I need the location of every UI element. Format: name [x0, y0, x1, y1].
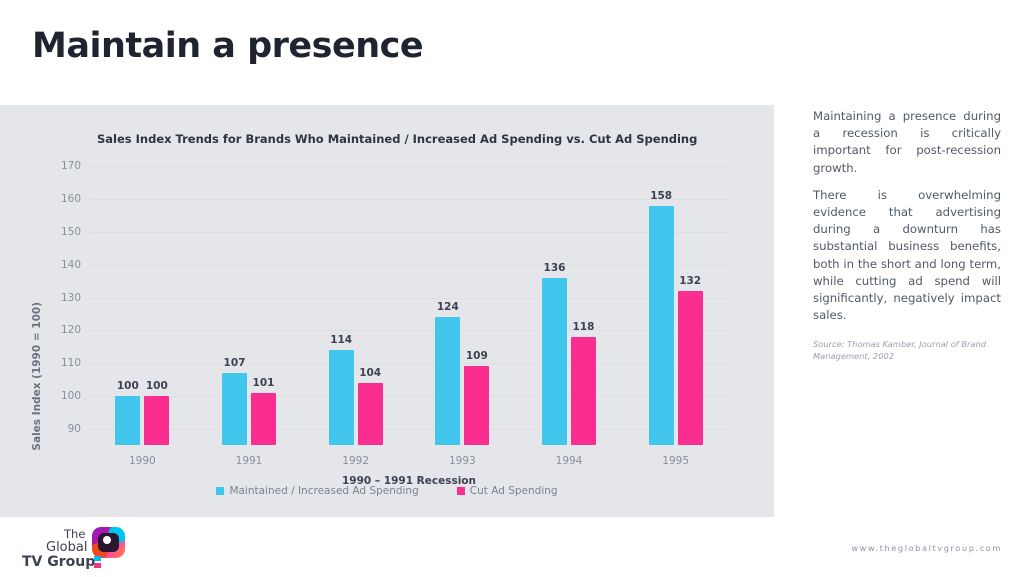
- gridline: [89, 199, 729, 200]
- bar-1994-series2: 118: [571, 337, 596, 445]
- y-axis-tick-label: 130: [61, 292, 81, 304]
- gridline: [89, 429, 729, 430]
- x-axis-tick-label: 1994: [556, 455, 583, 467]
- bar-value-label: 100: [117, 380, 139, 392]
- bar-value-label: 132: [679, 275, 701, 287]
- legend-label: Maintained / Increased Ad Spending: [229, 485, 418, 497]
- y-axis-title: Sales Index (1990 = 100): [31, 302, 43, 451]
- tv-eye-pupil-shape: [103, 536, 111, 544]
- bar-value-label: 124: [437, 301, 459, 313]
- bar-1993-series2: 109: [464, 366, 489, 445]
- gridline: [89, 363, 729, 364]
- x-axis-tick-label: 1991: [236, 455, 263, 467]
- logo-text-the: The: [64, 529, 85, 541]
- bar-1991-series1: 107: [222, 373, 247, 445]
- bar-value-label: 101: [253, 377, 275, 389]
- side-paragraph-2: There is overwhelming evidence that adve…: [813, 187, 1001, 325]
- logo-text-tvgroup: TV Group: [22, 555, 95, 569]
- bar-1995-series1: 158: [649, 206, 674, 445]
- y-axis-tick-label: 140: [61, 259, 81, 271]
- chart-legend: Maintained / Increased Ad SpendingCut Ad…: [0, 485, 774, 497]
- gridline: [89, 298, 729, 299]
- bar-1995-series2: 132: [678, 291, 703, 445]
- bar-1991-series2: 101: [251, 393, 276, 445]
- logo: The Global TV Group: [22, 527, 142, 571]
- bar-value-label: 109: [466, 350, 488, 362]
- logo-text-global: Global: [46, 541, 87, 554]
- tv-eye-logo-icon: [92, 527, 125, 558]
- bar-1994-series1: 136: [542, 278, 567, 445]
- bar-value-label: 100: [146, 380, 168, 392]
- y-axis-tick-label: 150: [61, 226, 81, 238]
- bar-value-label: 114: [330, 334, 352, 346]
- bar-1990-series1: 100: [115, 396, 140, 445]
- gridline: [89, 330, 729, 331]
- gridline: [89, 232, 729, 233]
- gridline: [89, 265, 729, 266]
- side-text-column: Maintaining a presence during a recessio…: [813, 108, 1001, 362]
- source-note: Source: Thomas Kamber, Journal of Brand …: [813, 338, 1001, 362]
- gridline: [89, 396, 729, 397]
- bar-1993-series1: 124: [435, 317, 460, 445]
- y-axis-tick-label: 100: [61, 390, 81, 402]
- plot-area: 90100110120130140150160170 1001001071011…: [89, 150, 729, 525]
- y-axis-tick-label: 160: [61, 193, 81, 205]
- x-axis-tick-label: 1993: [449, 455, 476, 467]
- bar-1992-series2: 104: [358, 383, 383, 445]
- bar-1990-series2: 100: [144, 396, 169, 445]
- x-axis-tick-label: 1992: [342, 455, 369, 467]
- x-axis-tick-label: 1990: [129, 455, 156, 467]
- bar-value-label: 107: [224, 357, 246, 369]
- legend-swatch-icon: [457, 487, 465, 495]
- side-paragraph-1: Maintaining a presence during a recessio…: [813, 108, 1001, 177]
- gridline: [89, 166, 729, 167]
- y-axis-tick-label: 90: [68, 423, 81, 435]
- legend-item-1[interactable]: Maintained / Increased Ad Spending: [216, 485, 418, 497]
- y-axis-tick-label: 120: [61, 324, 81, 336]
- chart-title: Sales Index Trends for Brands Who Mainta…: [97, 132, 697, 146]
- bar-1992-series1: 114: [329, 350, 354, 445]
- page-title: Maintain a presence: [32, 26, 423, 66]
- legend-item-2[interactable]: Cut Ad Spending: [457, 485, 558, 497]
- legend-label: Cut Ad Spending: [470, 485, 558, 497]
- bar-value-label: 118: [573, 321, 595, 333]
- bar-value-label: 158: [650, 190, 672, 202]
- chart-panel: Sales Index Trends for Brands Who Mainta…: [0, 105, 774, 517]
- y-axis-tick-label: 110: [61, 357, 81, 369]
- legend-swatch-icon: [216, 487, 224, 495]
- logo-colon-icon: [94, 556, 101, 569]
- x-axis-tick-label: 1995: [662, 455, 689, 467]
- footer-url: www.theglobaltvgroup.com: [851, 543, 1002, 553]
- bar-value-label: 104: [359, 367, 381, 379]
- bar-value-label: 136: [544, 262, 566, 274]
- y-axis-tick-label: 170: [61, 160, 81, 172]
